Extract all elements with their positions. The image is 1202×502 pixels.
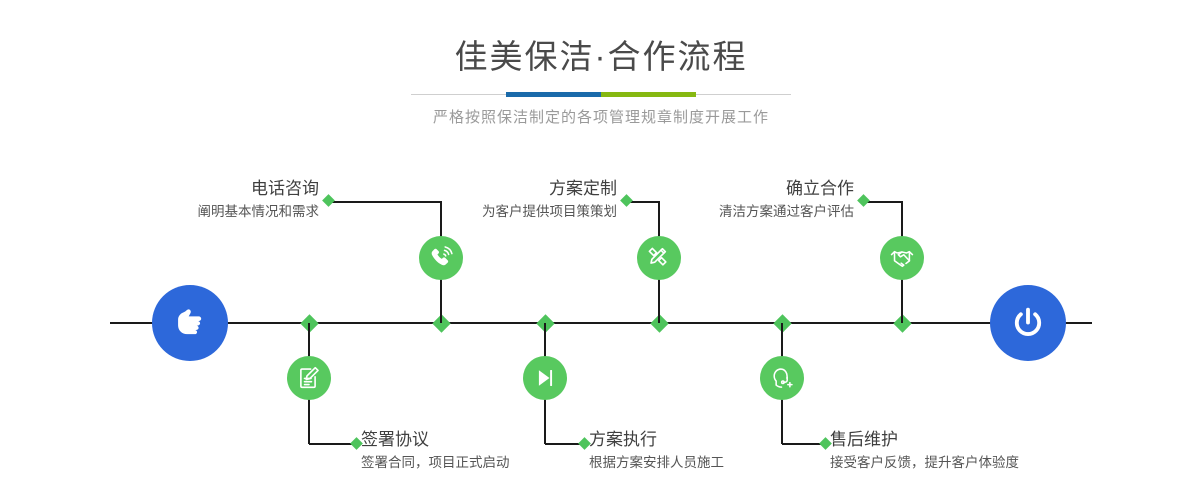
step-icon-1 [419,236,463,280]
connector-elbow [309,443,355,445]
step-label-1: 电话咨询 阐明基本情况和需求 [119,177,319,223]
step-icon-2 [287,356,331,400]
timeline-start-node [152,285,228,361]
phone-call-icon [428,245,454,271]
headset-person-add-icon [769,365,795,391]
step-desc: 阐明基本情况和需求 [119,201,319,223]
step-label-3: 方案定制 为客户提供项目策策划 [417,177,617,223]
step-icon-4 [523,356,567,400]
connector-elbow [864,201,903,203]
step-label-2: 签署协议 签署合同，项目正式启动 [361,428,591,474]
step-desc: 清洁方案通过客户评估 [654,201,854,223]
pointing-hand-icon [168,301,212,345]
step-label-5: 确立合作 清洁方案通过客户评估 [654,177,854,223]
timeline-end-node [990,285,1066,361]
step-desc: 为客户提供项目策策划 [417,201,617,223]
step-title: 签署协议 [361,428,591,452]
step-label-4: 方案执行 根据方案安排人员施工 [589,428,819,474]
document-pen-icon [296,365,322,391]
step-title: 方案执行 [589,428,819,452]
step-title: 方案定制 [417,177,617,201]
power-icon [1006,301,1050,345]
step-desc: 签署合同，项目正式启动 [361,452,591,474]
step-title: 售后维护 [830,428,1090,452]
divider-segment-blue [506,92,601,97]
handshake-icon [889,245,915,271]
step-icon-6 [760,356,804,400]
title-divider [411,90,791,100]
step-icon-5 [880,236,924,280]
step-icon-3 [637,236,681,280]
page-title: 佳美保洁·合作流程 [0,34,1202,80]
process-flow-infographic: 佳美保洁·合作流程 严格按照保洁制定的各项管理规章制度开展工作 [0,0,1202,502]
step-label-6: 售后维护 接受客户反馈，提升客户体验度 [830,428,1090,474]
page-subtitle: 严格按照保洁制定的各项管理规章制度开展工作 [0,107,1202,129]
divider-segment-green [601,92,696,97]
play-skip-icon [532,365,558,391]
label-bullet [857,194,870,207]
connector-elbow [782,443,824,445]
label-bullet [620,194,633,207]
pencil-ruler-icon [646,245,672,271]
step-desc: 根据方案安排人员施工 [589,452,819,474]
step-title: 电话咨询 [119,177,319,201]
step-desc: 接受客户反馈，提升客户体验度 [830,452,1090,474]
label-bullet [322,194,335,207]
step-title: 确立合作 [654,177,854,201]
header: 佳美保洁·合作流程 严格按照保洁制定的各项管理规章制度开展工作 [0,34,1202,129]
timeline-axis [110,322,1092,324]
